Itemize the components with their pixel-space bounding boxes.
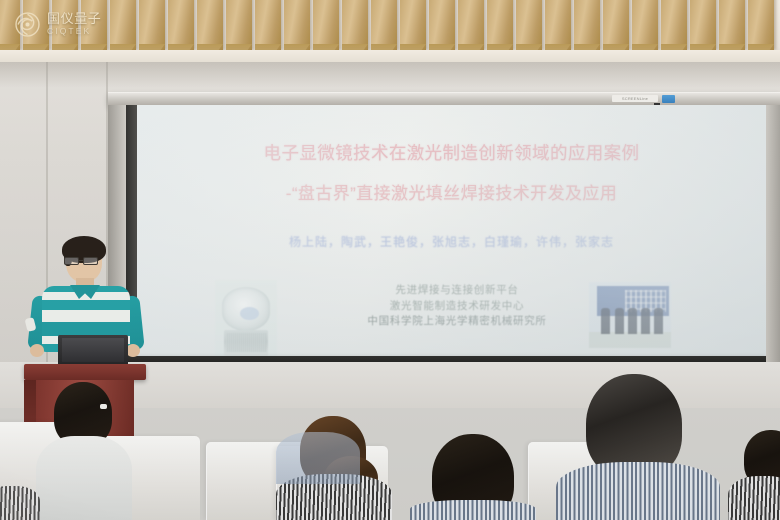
speaker-glasses xyxy=(64,257,104,265)
projector-screen-valance xyxy=(108,92,780,105)
audience-member-3-shoulders xyxy=(410,500,536,520)
spool-label xyxy=(240,307,259,320)
audience-member-6-shoulders xyxy=(728,476,780,520)
spool-wire-body xyxy=(224,330,268,356)
audience-member-5-shoulders xyxy=(556,462,720,520)
valance-brand-label: SCREENLine xyxy=(612,95,658,102)
slide-author-list: 杨上陆，陶武，王艳俊，张旭志，白瑾瑜，许伟，张家志 xyxy=(137,233,766,250)
watermark-text: 国仪量子 CIQTEK xyxy=(47,12,101,36)
podium-top xyxy=(24,364,146,380)
audience-member-1-shoulders xyxy=(36,436,132,520)
valance-indicator-chip xyxy=(662,95,675,103)
spiral-logo-icon xyxy=(14,11,41,38)
presenter-laptop xyxy=(58,335,128,367)
audience-member-1-hairpin xyxy=(100,404,107,409)
watermark-logo: 国仪量子 CIQTEK xyxy=(14,9,134,39)
laptop-screen xyxy=(62,338,124,362)
presentation-slide: 电子显微镜技术在激光制造创新领域的应用案例 -“盘古界”直接激光填丝焊接技术开发… xyxy=(137,105,766,356)
watermark-name-cn: 国仪量子 xyxy=(47,12,101,25)
slide-title-line-1: 电子显微镜技术在激光制造创新领域的应用案例 xyxy=(137,145,766,163)
speaker-left-hand xyxy=(30,344,44,357)
audience-member-4-shoulders xyxy=(276,432,360,484)
team-group-photo xyxy=(589,282,671,348)
audience-member-7-shoulders xyxy=(0,486,40,520)
watermark-name-en: CIQTEK xyxy=(47,27,101,36)
wall-shadow xyxy=(0,62,780,88)
presentation-photo-scene: SCREENLine 电子显微镜技术在激光制造创新领域的应用案例 -“盘古界”直… xyxy=(0,0,780,520)
slide-title-line-2: -“盘古界”直接激光填丝焊接技术开发及应用 xyxy=(137,185,766,202)
welding-wire-spool-photo xyxy=(215,280,277,356)
speaker-right-hand xyxy=(126,344,140,357)
photo-floor xyxy=(589,332,671,348)
screen-right-border xyxy=(766,105,780,375)
spool-top xyxy=(222,287,270,331)
